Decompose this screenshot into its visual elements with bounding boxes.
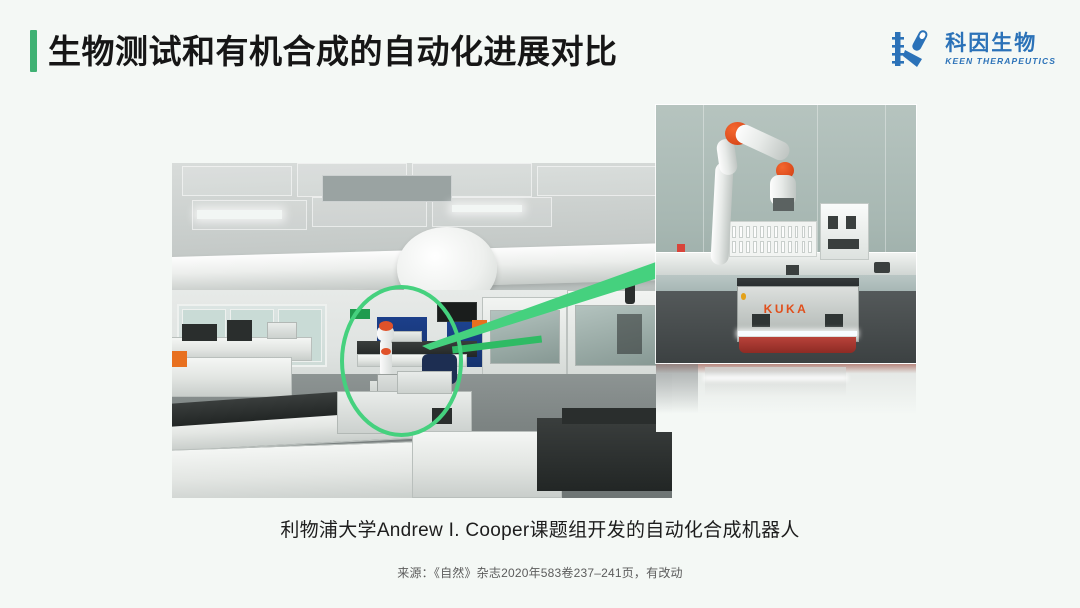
keen-k-pipette-mark [892,26,936,72]
vial [746,226,750,238]
vial [788,241,792,253]
reflection-gradient [656,364,916,432]
figure-caption: 利物浦大学Andrew I. Cooper课题组开发的自动化合成机器人 [0,515,1080,542]
vial [795,241,799,253]
robot-arm-segment [380,338,392,378]
vial [767,226,771,238]
lab-panorama-photo [172,163,672,498]
vial [753,241,757,253]
base-vent [825,314,843,327]
bench-object [786,265,799,275]
vial [774,241,778,253]
instrument-module [397,371,452,394]
instrument-vent [432,408,452,425]
base-bumper [739,337,856,352]
vial [767,241,771,253]
vial [732,226,736,238]
vial [802,226,806,238]
ceiling-vent [322,175,452,202]
title-accent-bar [30,30,37,72]
logo-wordmark: 科因生物 KEEN THERAPEUTICS [945,33,1056,66]
ceiling-tile [537,166,662,196]
bench-equipment [227,320,252,340]
logo-chinese-name: 科因生物 [945,33,1056,54]
instrument-port [828,216,838,229]
wall-monitor [437,302,477,322]
ceiling-light [452,205,522,212]
base-light-bar [738,331,858,336]
page-title: 生物测试和有机合成的自动化进展对比 [30,30,618,72]
brand-logo: 科因生物 KEEN THERAPEUTICS [892,22,1056,76]
logo-english-name: KEEN THERAPEUTICS [945,57,1056,66]
exit-sign [350,309,370,320]
vial [774,226,778,238]
vial [760,241,764,253]
base-vent [752,314,770,327]
vial-rack [729,221,817,257]
bench-instrument [820,203,869,260]
robot-joint [379,321,393,331]
vial [760,226,764,238]
vial [753,226,757,238]
kuka-robot-photo: KUKA [656,105,916,363]
instrument-port [846,216,856,229]
lab-scene [172,163,672,498]
dark-counter [537,418,672,492]
vial [808,226,812,238]
hood-equipment [617,314,642,354]
vial [732,241,736,253]
vial [739,226,743,238]
title-text: 生物测试和有机合成的自动化进展对比 [48,35,618,68]
reflection-lightbar [703,375,849,381]
status-indicator [741,293,746,299]
orange-bin [172,351,187,368]
hood-hose [625,280,635,303]
figure-source: 来源：《自然》杂志2020年583卷237–241页，有改动 [0,564,1080,581]
vial [739,241,743,253]
ceiling-light [197,210,282,219]
instrument-slot [828,239,859,249]
inset-reflection [656,364,916,432]
vial [802,241,806,253]
bench-equipment [182,324,217,341]
reflection-body [705,367,845,396]
vial [808,241,812,253]
slide-root: 生物测试和有机合成的自动化进展对比 科因生物 KEEN THERAPEUTICS [0,0,1080,608]
vial [781,241,785,253]
kuka-gripper [773,198,794,211]
bench-equipment [267,322,297,339]
vial [788,226,792,238]
orange-item [472,320,487,330]
vial [746,241,750,253]
lab-bench-cabinet [172,357,292,397]
red-indicator [677,244,685,252]
bench-object [874,262,890,272]
vial [781,226,785,238]
keyboard [562,408,662,425]
vial [795,226,799,238]
ceiling-tile [182,166,292,196]
